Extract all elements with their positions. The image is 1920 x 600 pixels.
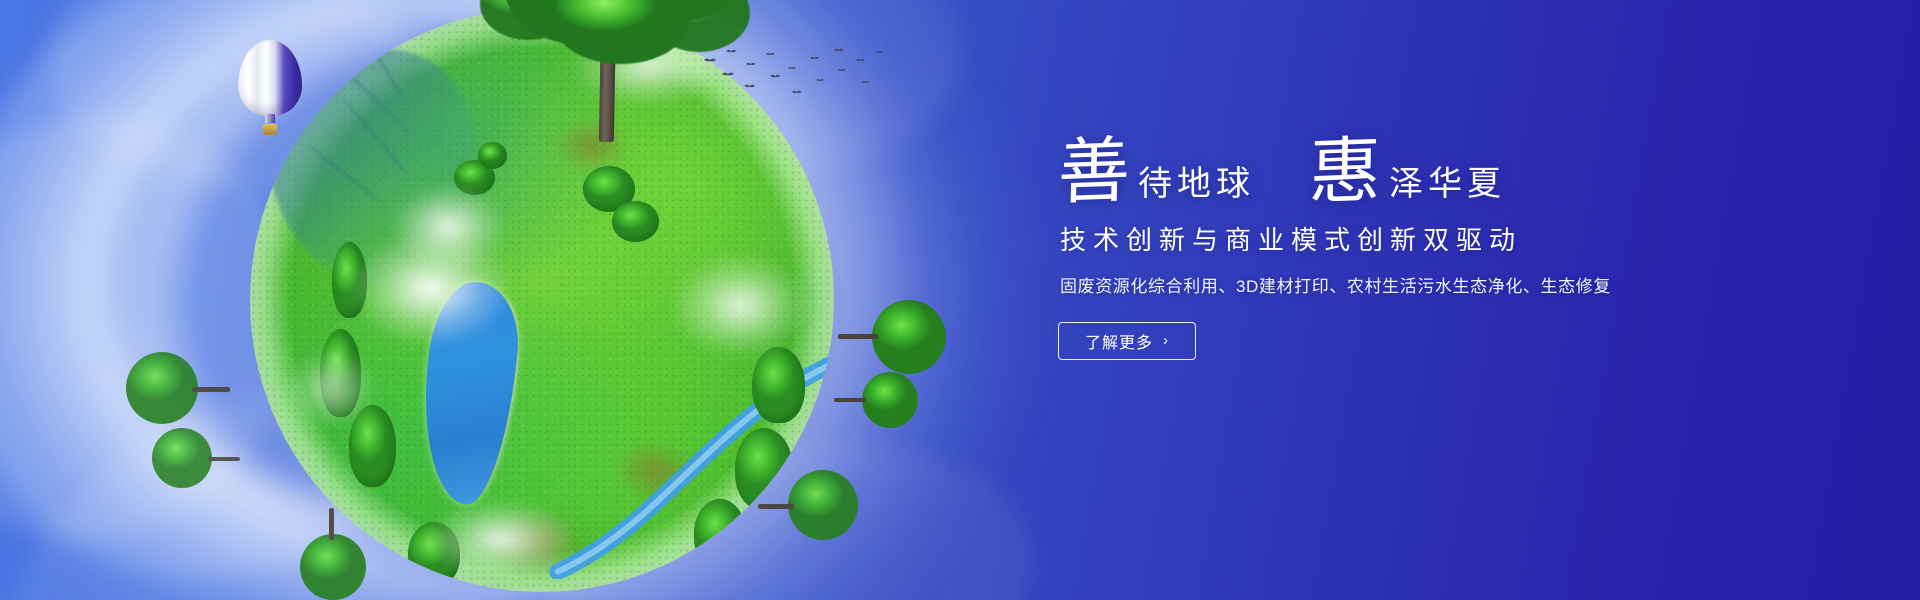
tree-canopy [862, 372, 918, 428]
cloud [425, 499, 577, 581]
balloon-neck [265, 114, 275, 123]
rim-tree [152, 428, 212, 488]
page-title: 善 待地球 惠 泽华夏 [1058, 136, 1758, 208]
shrub [478, 142, 507, 168]
learn-more-button[interactable]: 了解更多 › [1058, 322, 1196, 360]
shrub [752, 347, 805, 423]
hero-subtitle: 技术创新与商业模式创新双驱动 [1060, 224, 1758, 257]
tree-trunk [208, 457, 240, 461]
tree-trunk [834, 398, 866, 402]
birds-flock-icon [700, 42, 890, 104]
rim-tree [872, 300, 946, 374]
headline-char-1: 善 [1057, 135, 1130, 209]
birds-svg [700, 42, 890, 104]
soil-patch [554, 119, 630, 172]
tree-canopy [126, 352, 198, 424]
balloon-basket [263, 124, 277, 135]
balloon-envelope [238, 40, 302, 116]
headline-char-2: 惠 [1308, 135, 1381, 209]
hero-banner: 善 待地球 惠 泽华夏 技术创新与商业模式创新双驱动 固废资源化综合利用、3D建… [0, 0, 1920, 600]
shrub [612, 201, 659, 242]
hot-air-balloon-icon [238, 40, 302, 140]
shrub [694, 499, 747, 569]
shrub [735, 428, 793, 510]
cloud [670, 253, 810, 358]
rim-tree [126, 352, 198, 424]
tree-trunk [838, 334, 878, 339]
hero-description: 固废资源化综合利用、3D建材打印、农村生活污水生态净化、生态修复 [1060, 275, 1758, 299]
learn-more-label: 了解更多 [1085, 329, 1153, 353]
tree-trunk [192, 387, 230, 392]
hero-content: 善 待地球 惠 泽华夏 技术创新与商业模式创新双驱动 固废资源化综合利用、3D建… [1058, 136, 1758, 360]
cloud [390, 183, 507, 271]
headline-rest-1: 待地球 [1130, 168, 1255, 208]
chevron-right-icon: › [1163, 333, 1169, 348]
headline-rest-2: 泽华夏 [1381, 168, 1506, 208]
rim-tree [862, 372, 918, 428]
tree-canopy [872, 300, 946, 374]
tree-canopy [152, 428, 212, 488]
